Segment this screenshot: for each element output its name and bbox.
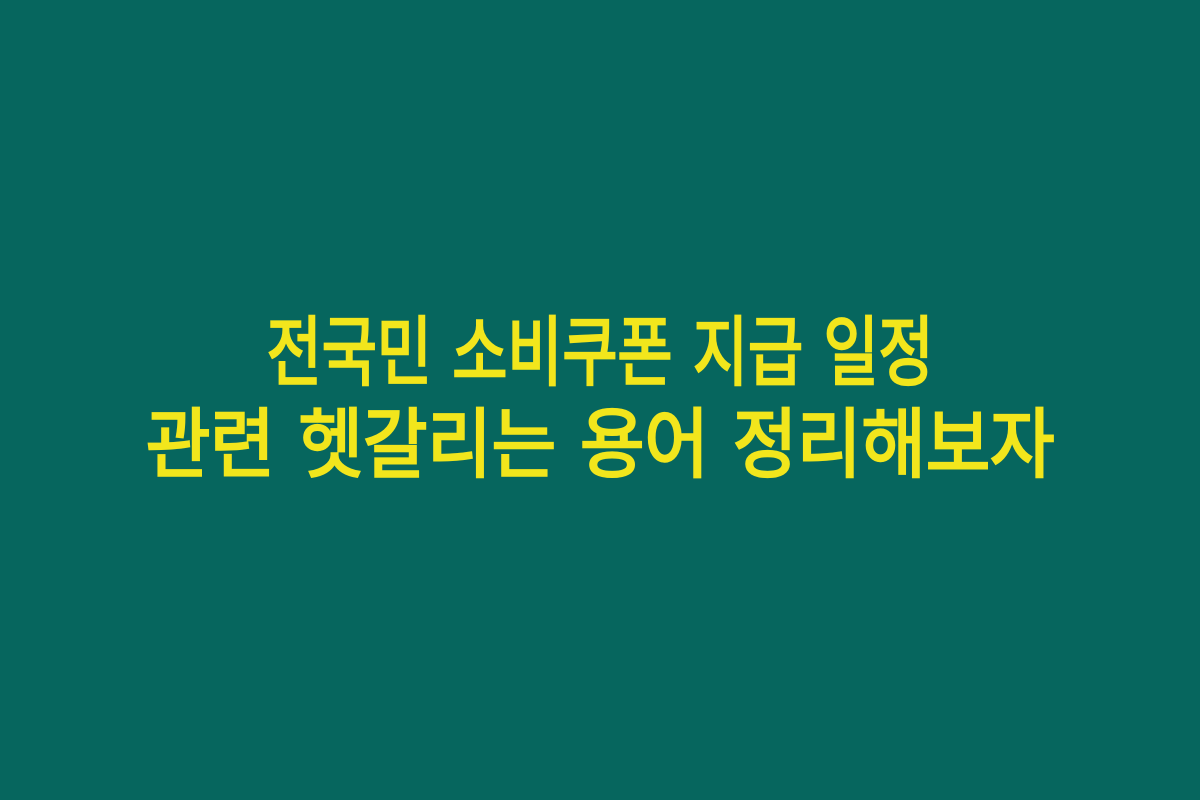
headline-block: 전국민 소비쿠폰 지급 일정 관련 헷갈리는 용어 정리해보자 <box>0 307 1200 491</box>
headline-line-1: 전국민 소비쿠폰 지급 일정 <box>125 307 1076 399</box>
banner-canvas: 전국민 소비쿠폰 지급 일정 관련 헷갈리는 용어 정리해보자 <box>0 0 1200 800</box>
headline-line-2: 관련 헷갈리는 용어 정리해보자 <box>44 399 1156 491</box>
